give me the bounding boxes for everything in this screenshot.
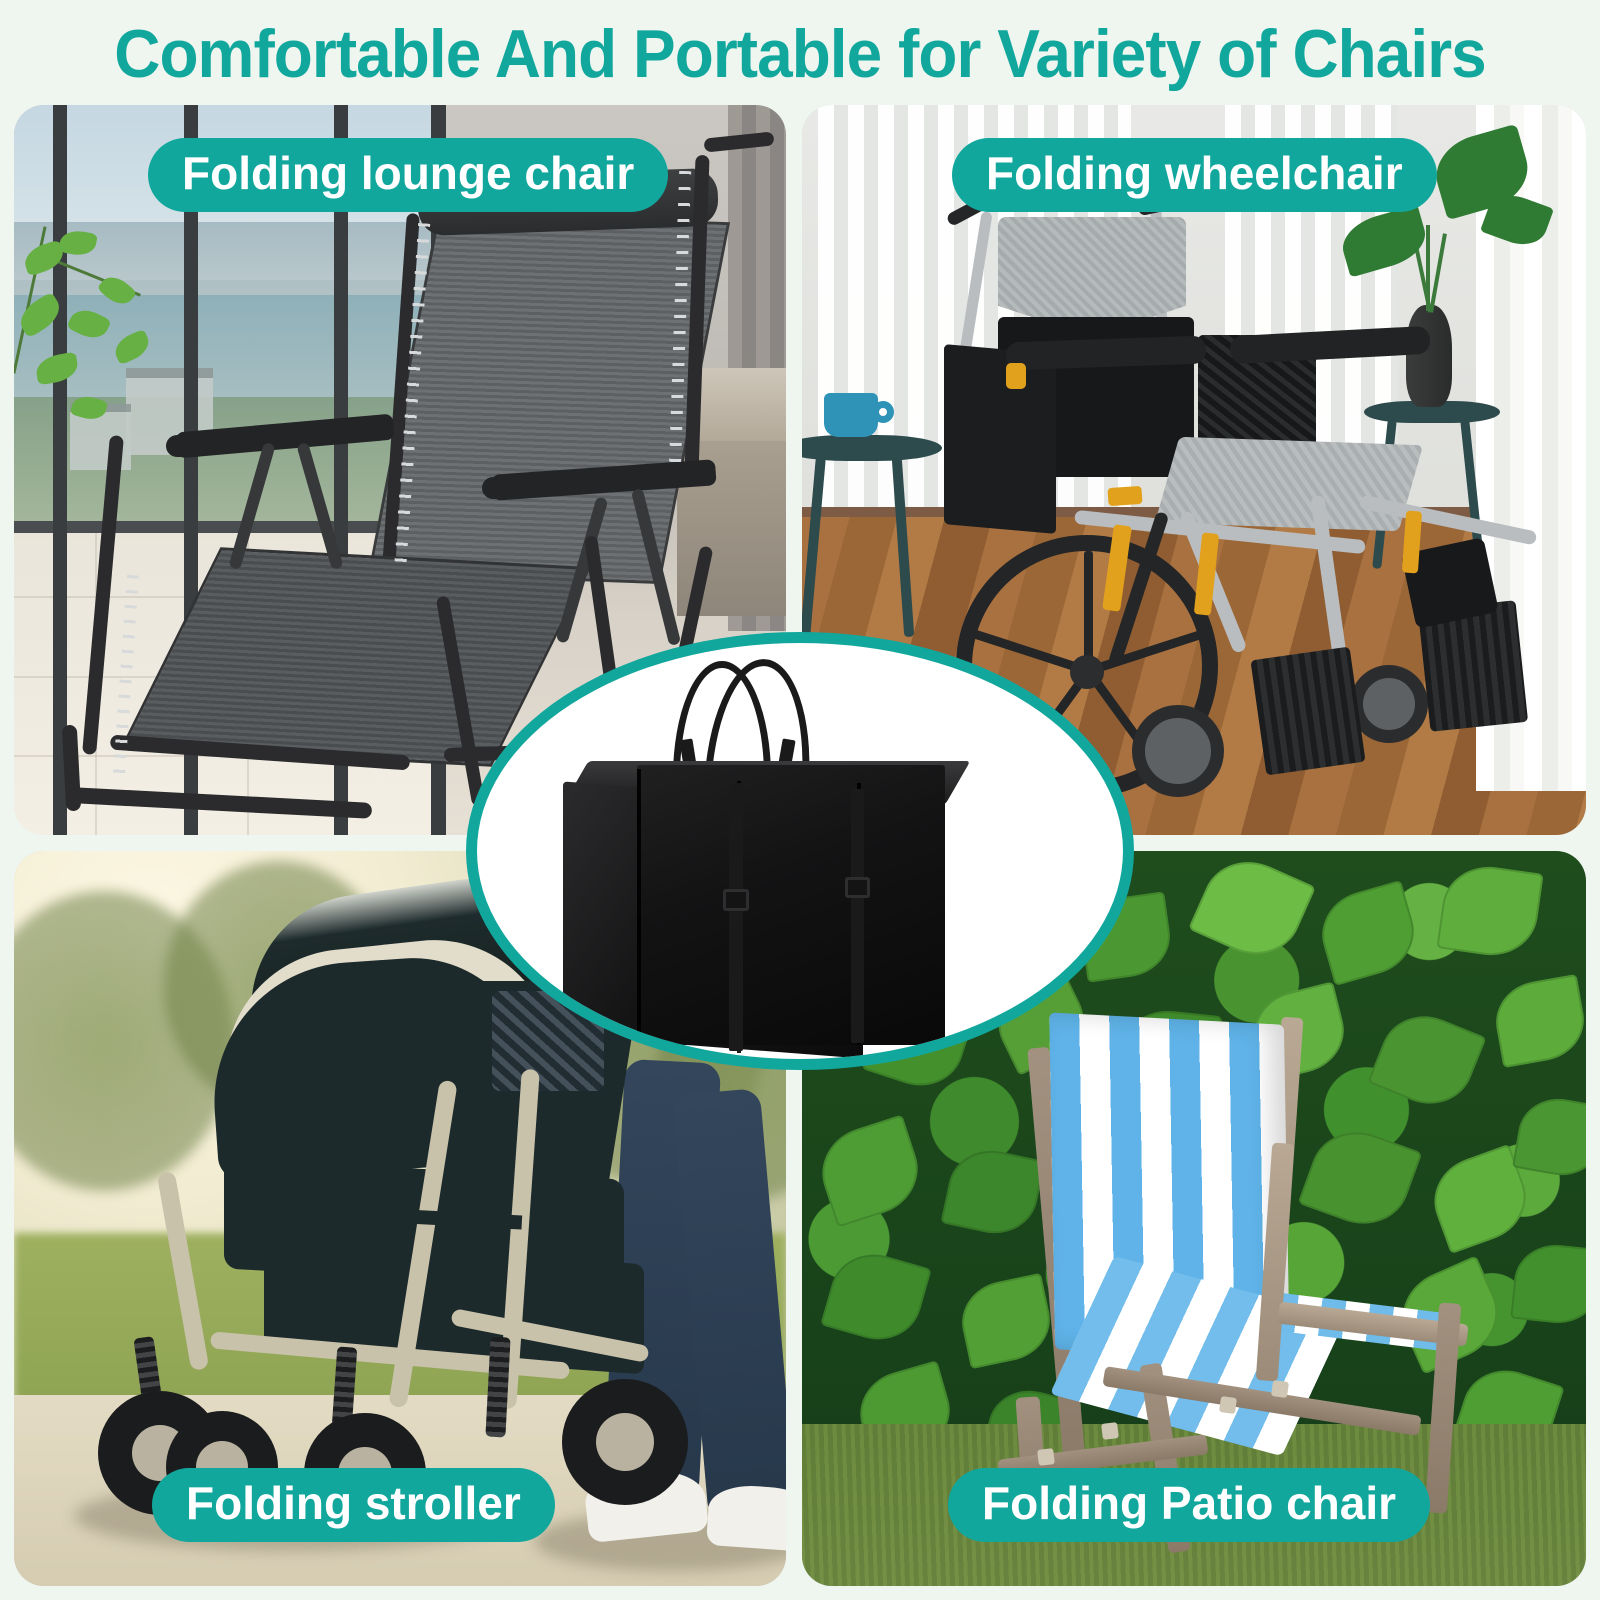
badge-folding-stroller: Folding stroller bbox=[152, 1468, 555, 1542]
release-lever bbox=[1107, 486, 1142, 506]
strap-buckle bbox=[723, 889, 749, 911]
badge-folding-lounge-chair: Folding lounge chair bbox=[148, 138, 668, 212]
page-title: Comfortable And Portable for Variety of … bbox=[48, 8, 1552, 100]
badge-folding-wheelchair: Folding wheelchair bbox=[952, 138, 1437, 212]
front-caster bbox=[1132, 705, 1224, 797]
compression-strap bbox=[851, 789, 864, 1043]
front-caster bbox=[1350, 665, 1428, 743]
brake-tab bbox=[1006, 363, 1026, 389]
center-product-callout bbox=[466, 632, 1134, 1070]
bag-front-panel bbox=[637, 765, 945, 1045]
compression-strap bbox=[729, 783, 743, 1051]
footplate bbox=[1250, 647, 1365, 776]
seat-cushion bbox=[1155, 437, 1423, 532]
strap-buckle bbox=[845, 877, 870, 898]
badge-folding-patio-chair: Folding Patio chair bbox=[948, 1468, 1430, 1542]
folding-chair-storage-bag bbox=[477, 643, 1123, 1059]
